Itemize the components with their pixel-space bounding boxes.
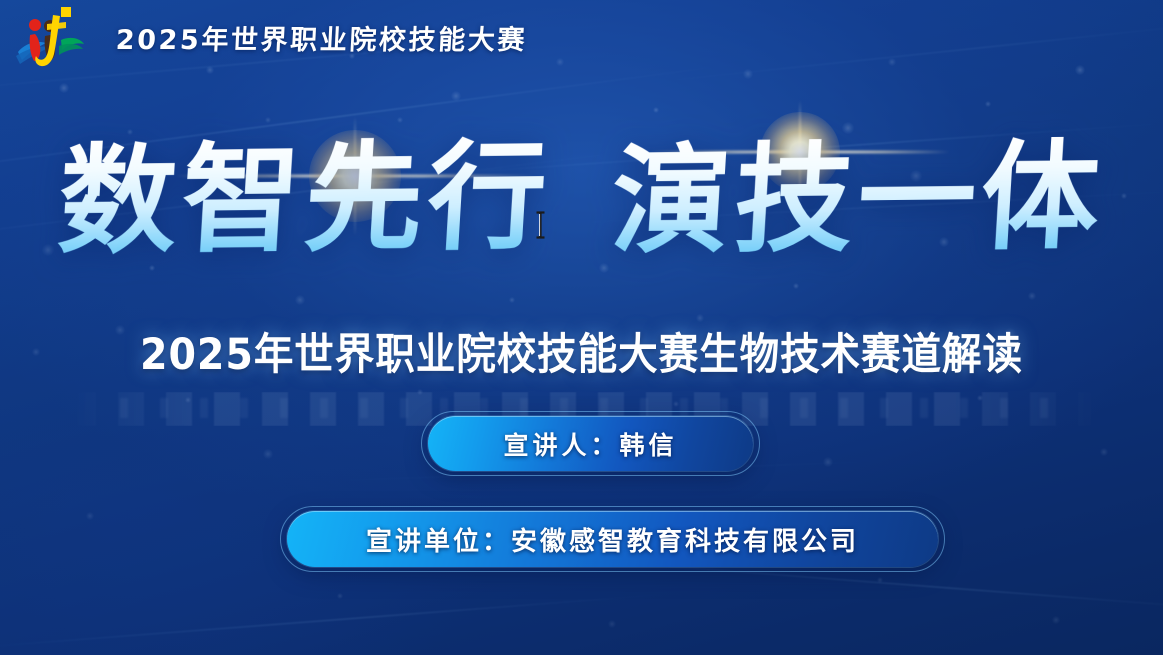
bokeh-dot: [149, 265, 155, 271]
bokeh-dot: [939, 237, 949, 247]
bokeh-dot: [1004, 328, 1016, 340]
slide-header: 2025年世界职业院校技能大赛: [0, 0, 1163, 74]
bokeh-dot: [1100, 448, 1108, 456]
bokeh-dot: [265, 117, 271, 123]
presentation-slide: 2025年世界职业院校技能大赛 数智先行 演技一体 2025年世界职业院校技能大…: [0, 0, 1163, 655]
light-streak: [0, 63, 736, 182]
bokeh-dot: [793, 283, 799, 289]
bokeh-dot: [263, 449, 273, 459]
bokeh-dot: [451, 91, 461, 101]
bokeh-dot: [599, 263, 609, 273]
light-streak: [0, 592, 679, 649]
light-streak: [560, 189, 1163, 224]
bokeh-dot: [92, 192, 100, 200]
light-streak: [421, 121, 1163, 176]
header-title: 2025年世界职业院校技能大赛: [115, 18, 528, 57]
bokeh-dot: [397, 117, 403, 123]
bokeh-dot: [1121, 193, 1127, 199]
bokeh-dot: [295, 295, 305, 305]
bokeh-dot: [127, 129, 133, 135]
bokeh-dot: [823, 457, 833, 467]
main-title-part-2: 演技一体: [608, 133, 1108, 263]
bokeh-dot: [42, 244, 54, 256]
bokeh-dot: [696, 314, 704, 322]
bokeh-dot: [608, 620, 616, 628]
bokeh-dot: [185, 397, 191, 403]
bokeh-dot: [985, 101, 991, 107]
bokeh-dot: [509, 297, 515, 303]
bokeh-dot: [32, 348, 40, 356]
bokeh-dot: [910, 170, 922, 182]
text-ibeam-cursor: [534, 210, 547, 240]
bokeh-dot: [400, 228, 408, 236]
speaker-pill-button[interactable]: 宣讲人：韩信: [428, 416, 753, 471]
wvsc-logo-icon: [14, 4, 88, 70]
bokeh-dot: [59, 83, 69, 93]
bokeh-dot: [842, 122, 854, 134]
ghost-pattern-band: [120, 398, 1050, 418]
subtitle: 2025年世界职业院校技能大赛生物技术赛道解读: [47, 320, 1117, 382]
main-title-part-1: 数智先行: [55, 133, 555, 263]
bokeh-dot: [337, 593, 343, 599]
bokeh-dot: [417, 389, 423, 395]
bokeh-dot: [696, 192, 704, 200]
bokeh-dot: [86, 512, 94, 520]
bokeh-dot: [977, 395, 983, 401]
bokeh-dot: [877, 577, 883, 583]
bokeh-dot: [1052, 616, 1060, 624]
bokeh-dot: [115, 325, 125, 335]
organization-pill-button[interactable]: 宣讲单位：安徽感智教育科技有限公司: [287, 511, 938, 567]
bokeh-dot: [653, 107, 659, 113]
bokeh-dot: [231, 169, 245, 183]
main-title: 数智先行 演技一体: [0, 136, 1163, 261]
bokeh-dot: [461, 159, 471, 169]
bokeh-dot: [673, 401, 679, 407]
bokeh-dot: [1028, 292, 1036, 300]
light-streak: [0, 150, 637, 245]
